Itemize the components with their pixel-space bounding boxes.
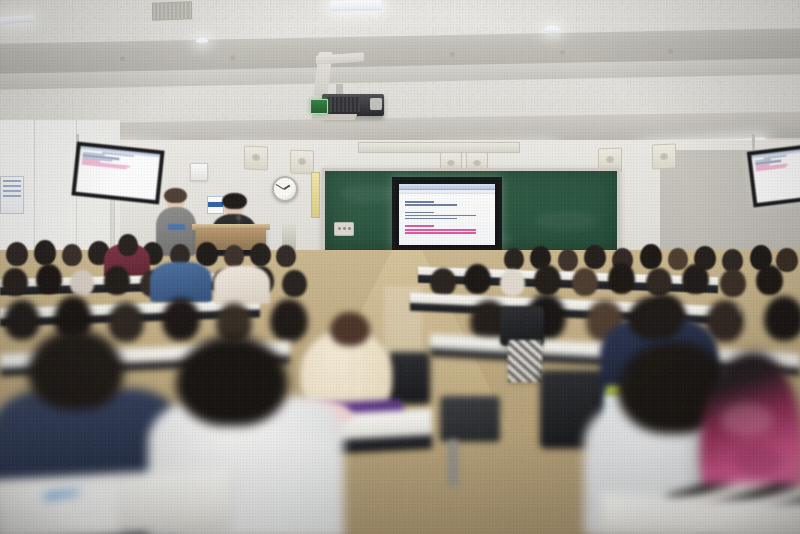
wall-clock	[272, 176, 298, 202]
wall-speaker	[652, 143, 676, 169]
notice-board	[0, 176, 24, 214]
ceiling-downlight	[196, 38, 208, 44]
ceiling-light-strip	[330, 0, 382, 11]
ceiling-projector	[322, 94, 384, 116]
patterned-tote-bag	[508, 340, 542, 382]
student-head	[118, 234, 138, 256]
wall-speaker	[244, 145, 268, 170]
student-head	[176, 336, 288, 426]
slide-highlight-line	[405, 232, 476, 234]
ceiling-downlight	[545, 26, 560, 33]
exit-sign	[310, 99, 328, 114]
student-head	[28, 330, 124, 410]
student-head	[628, 296, 684, 340]
projection-screen	[392, 177, 502, 251]
slide-title	[399, 196, 495, 200]
ceiling-vent-left	[152, 1, 192, 20]
board-control-panel[interactable]	[334, 222, 354, 236]
wall-speaker	[290, 150, 314, 175]
bag-dark	[388, 352, 430, 404]
lecture-hall-photo: University lecture hall during a student…	[0, 0, 800, 534]
paper-sheet	[0, 483, 119, 534]
slide-subheader-bar	[399, 190, 495, 194]
right-wall-monitor	[747, 145, 800, 208]
student-head	[330, 312, 370, 346]
slide-highlight-line	[405, 225, 434, 227]
wall-mounted-unit	[190, 163, 208, 181]
slide-text-line	[405, 212, 434, 214]
slide-text-line	[405, 201, 434, 203]
slide-text-line	[405, 204, 457, 206]
presentation-slide	[399, 184, 495, 245]
left-wall-monitor	[71, 142, 164, 205]
slide-text-line	[405, 215, 476, 217]
slide-text-line	[405, 218, 457, 220]
board-side-panel	[311, 172, 320, 218]
wall-rail	[358, 142, 520, 153]
chair-back	[440, 396, 500, 442]
projector-shelf	[311, 114, 357, 120]
slide-highlight-line	[405, 229, 476, 231]
chair-leg	[448, 440, 458, 486]
monitor-arm	[752, 134, 755, 150]
